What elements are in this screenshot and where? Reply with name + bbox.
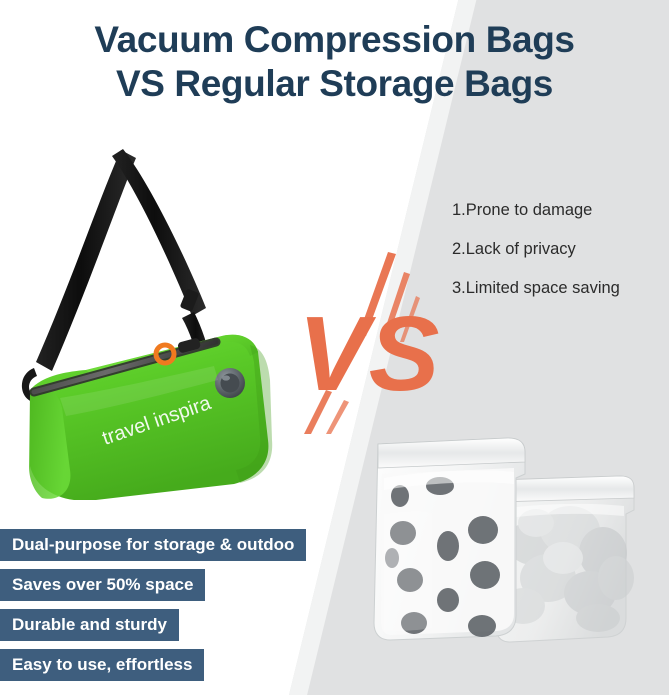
features-list: Dual-purpose for storage & outdoo Saves … [0,529,306,689]
cons-item-1: 1.Prone to damage [452,200,662,220]
regular-storage-bags-image [358,418,669,670]
versus-label: VS [298,295,439,413]
vacuum-compression-bag-image: travel inspira [0,140,300,500]
feature-row-2: Saves over 50% space [0,569,306,609]
feature-row-3: Durable and sturdy [0,609,306,649]
title-line-2: VS Regular Storage Bags [0,62,669,106]
feature-badge-3: Durable and sturdy [0,609,179,641]
air-valve-highlight [222,375,230,380]
title-line-1: Vacuum Compression Bags [0,18,669,62]
feature-badge-4: Easy to use, effortless [0,649,204,681]
page-title: Vacuum Compression Bags VS Regular Stora… [0,18,669,106]
cons-item-2: 2.Lack of privacy [452,239,662,259]
feature-row-4: Easy to use, effortless [0,649,306,689]
cons-list: 1.Prone to damage 2.Lack of privacy 3.Li… [452,200,662,317]
infographic-canvas: Vacuum Compression Bags VS Regular Stora… [0,0,669,695]
cons-item-3: 3.Limited space saving [452,278,662,298]
shoulder-strap-left [36,150,136,371]
storage-bag-front [374,438,525,640]
feature-badge-1: Dual-purpose for storage & outdoo [0,529,306,561]
feature-row-1: Dual-purpose for storage & outdoo [0,529,306,569]
storage-bag-back [496,476,634,642]
storage-bag-back-zipper [498,476,634,502]
versus-badge: VS [292,250,442,435]
feature-badge-2: Saves over 50% space [0,569,205,601]
